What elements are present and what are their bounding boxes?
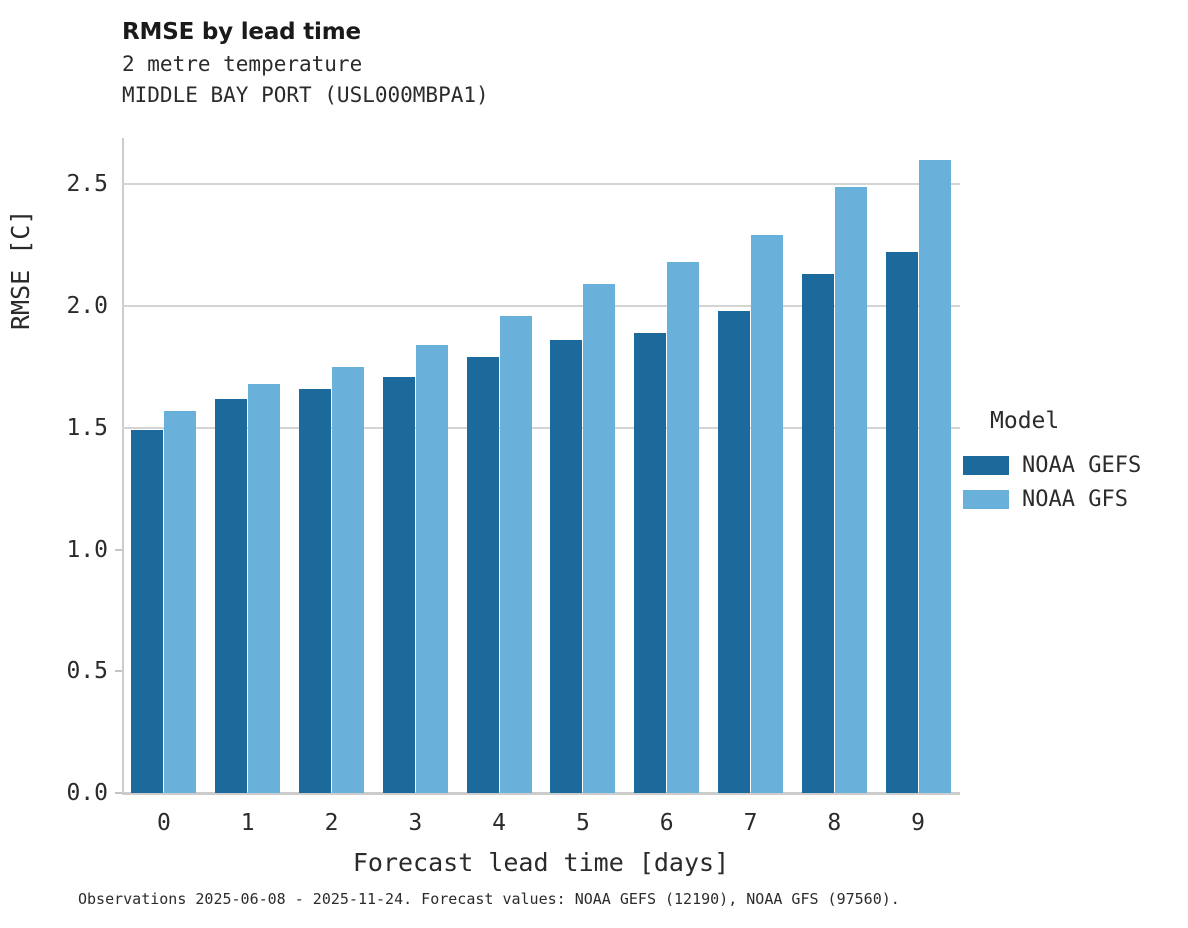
legend-swatch [963,490,1009,509]
bar-noaa-gfs-day-6 [667,262,699,793]
plot-area: 0.00.51.01.52.02.5 0123456789 Forecast l… [122,138,960,793]
y-axis-title: RMSE [C] [6,210,35,330]
y-tick-label: 2.0 [66,293,108,319]
legend-swatch [963,456,1009,475]
legend-items: NOAA GEFSNOAA GFS [963,448,1183,516]
bar-noaa-gefs-day-8 [802,274,834,793]
x-axis-title: Forecast lead time [days] [122,848,960,877]
bar-noaa-gefs-day-3 [383,377,415,793]
bar-noaa-gfs-day-0 [164,411,196,793]
x-tick-label: 0 [157,810,171,836]
y-tick-mark [115,670,122,672]
page-title: RMSE by lead time [122,18,1022,46]
legend-title: Model [990,408,1183,434]
bar-noaa-gefs-day-0 [131,430,163,793]
x-tick-label: 1 [241,810,255,836]
y-tick-label: 1.5 [66,415,108,441]
legend-label: NOAA GFS [1022,487,1128,512]
chart-station-name: MIDDLE BAY PORT (USL000MBPA1) [122,80,1022,110]
bar-noaa-gefs-day-9 [886,252,918,793]
footer-note: Observations 2025-06-08 - 2025-11-24. Fo… [78,890,900,908]
bar-noaa-gfs-day-8 [835,187,867,793]
chart-page: RMSE by lead time 2 metre temperature MI… [0,0,1188,928]
bar-noaa-gefs-day-2 [299,389,331,793]
gridline [122,183,960,185]
legend-item-noaa-gefs[interactable]: NOAA GEFS [963,448,1183,482]
y-axis-line [122,138,124,793]
y-tick-label: 0.5 [66,658,108,684]
x-tick-label: 6 [660,810,674,836]
bar-noaa-gfs-day-4 [500,316,532,793]
bar-noaa-gefs-day-4 [467,357,499,793]
y-tick-label: 1.0 [66,537,108,563]
chart-subtitle: 2 metre temperature [122,48,1022,80]
y-tick-label: 2.5 [66,171,108,197]
bar-noaa-gfs-day-5 [583,284,615,793]
bar-noaa-gefs-day-5 [550,340,582,793]
x-tick-label: 2 [325,810,339,836]
legend-label: NOAA GEFS [1022,453,1141,478]
bar-noaa-gefs-day-1 [215,399,247,793]
y-tick-mark [115,549,122,551]
chart-header: RMSE by lead time 2 metre temperature MI… [122,18,1022,110]
y-tick-mark [115,792,122,794]
bar-noaa-gfs-day-2 [332,367,364,793]
x-tick-label: 5 [576,810,590,836]
x-tick-label: 7 [744,810,758,836]
legend: Model NOAA GEFSNOAA GFS [963,408,1183,516]
bar-noaa-gfs-day-3 [416,345,448,793]
x-tick-label: 3 [408,810,422,836]
x-tick-label: 4 [492,810,506,836]
bar-noaa-gfs-day-9 [919,160,951,793]
bar-noaa-gfs-day-7 [751,235,783,793]
bar-noaa-gefs-day-7 [718,311,750,793]
x-tick-label: 8 [827,810,841,836]
bar-noaa-gfs-day-1 [248,384,280,793]
legend-item-noaa-gfs[interactable]: NOAA GFS [963,482,1183,516]
y-tick-label: 0.0 [66,780,108,806]
bar-noaa-gefs-day-6 [634,333,666,793]
x-tick-label: 9 [911,810,925,836]
